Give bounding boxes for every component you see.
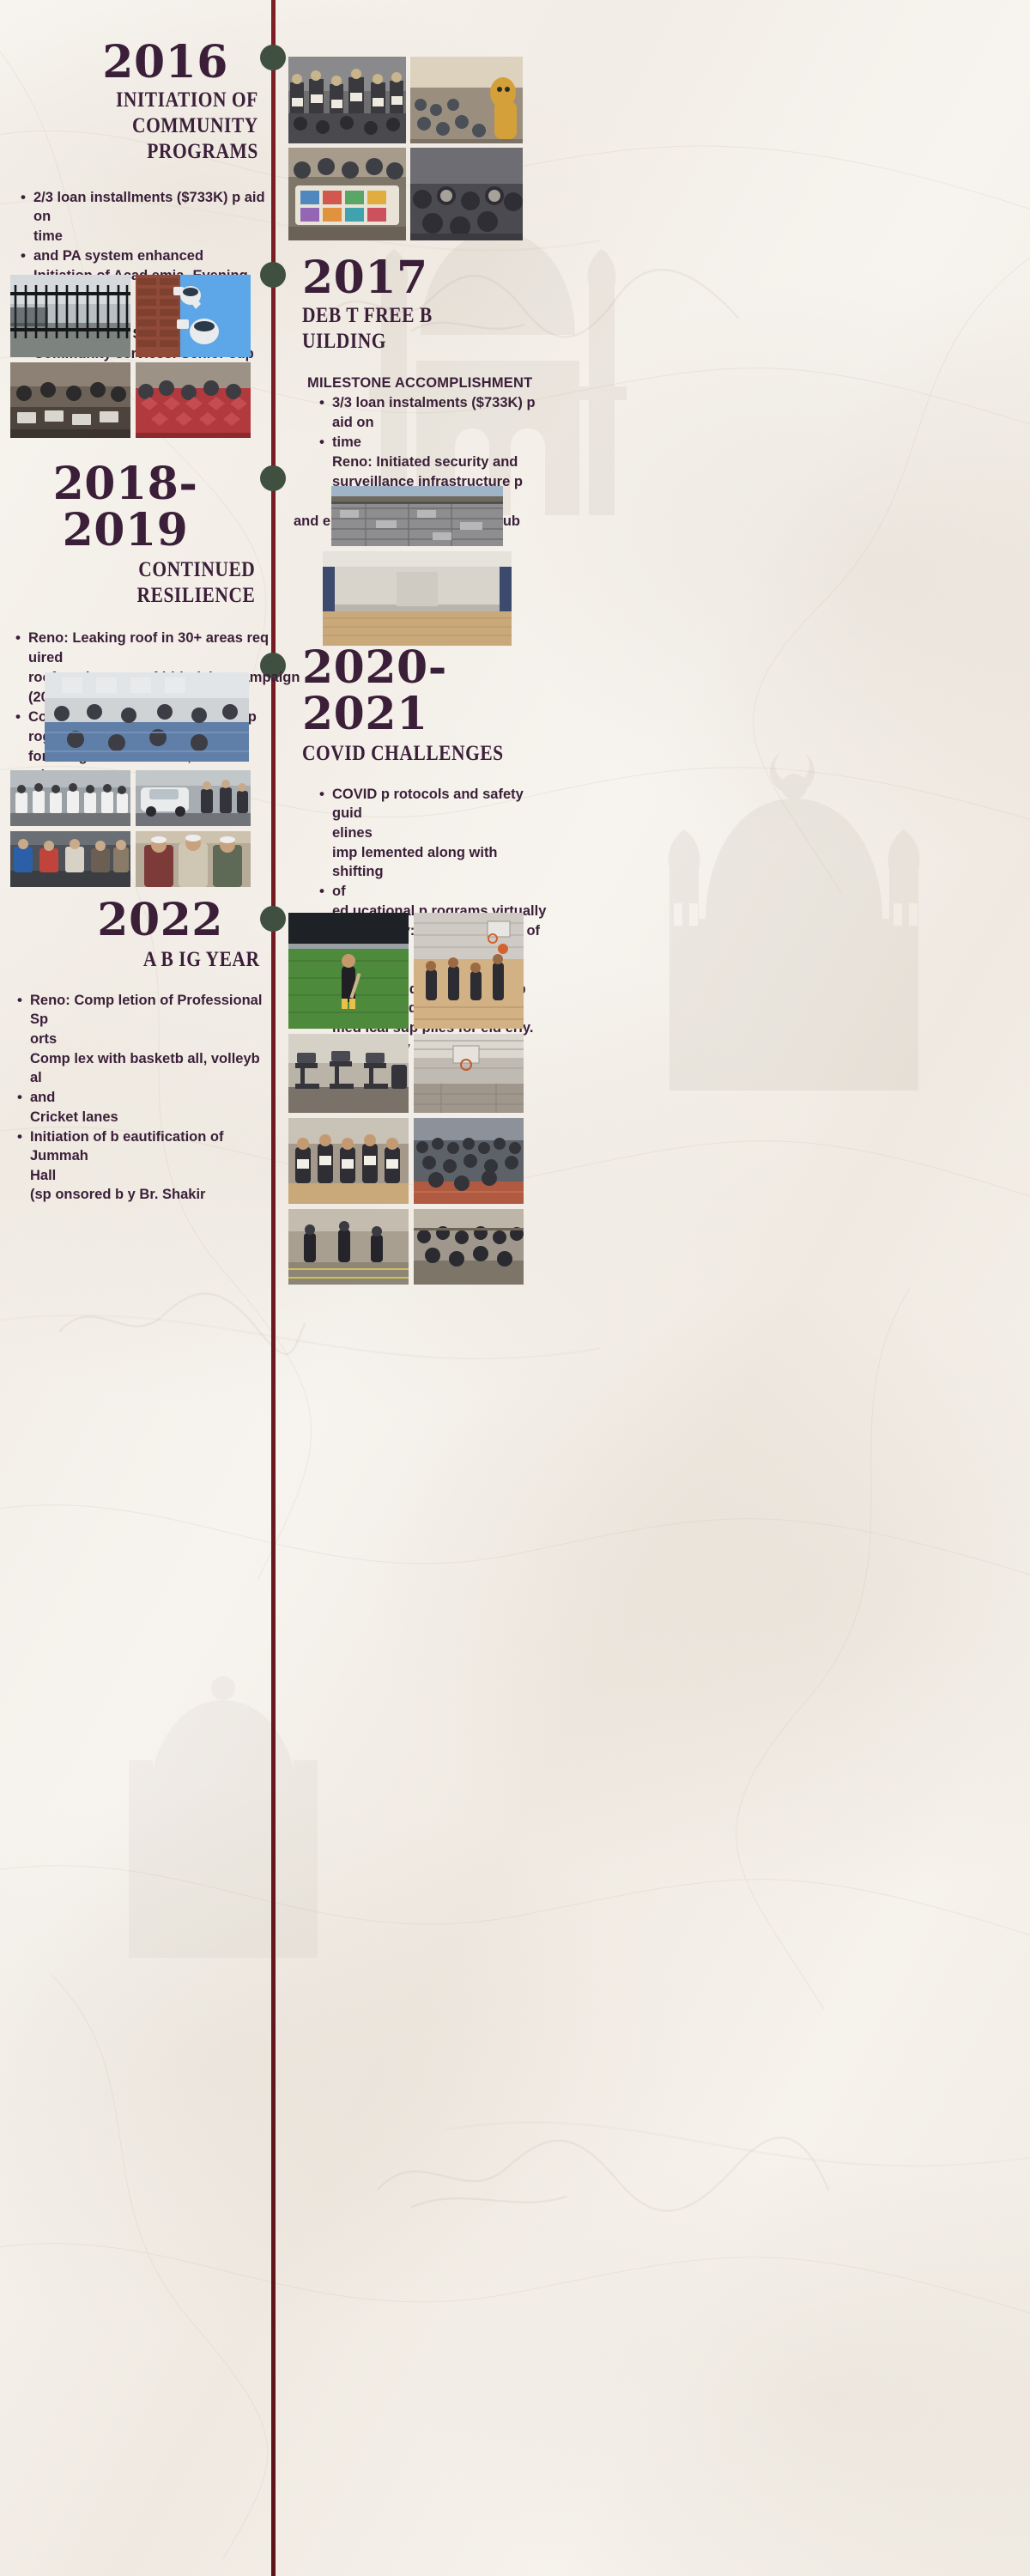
script-watermark-bottom xyxy=(360,2112,841,2224)
bullet-2020-3: of xyxy=(318,883,551,902)
photo-prayer-carpet-gathering xyxy=(136,362,251,438)
bullet-2018-0: Reno: Leaking roof in 30+ areas req xyxy=(14,629,273,648)
photo-hall-gathering-mascot xyxy=(410,57,523,143)
bullet-2018-1: uired xyxy=(14,649,273,668)
year-2016: 2016 xyxy=(0,39,273,86)
subtitle-2016-line1: INITIATION OF COMMUNITY xyxy=(39,88,273,139)
photo-audience-seated-gym xyxy=(414,1209,524,1285)
photo-volunteers-group-outside xyxy=(10,770,130,826)
timeline-spine xyxy=(271,0,276,2576)
photo-empty-gym-hall xyxy=(323,551,512,646)
bullet-2020-2: imp lemented along with shifting xyxy=(318,844,551,882)
section-2022-text: 2022 A B IG YEAR Reno: Comp letion of Pr… xyxy=(0,897,273,1206)
photo-basketball-game xyxy=(414,913,524,1029)
bullet-2022-7: (sp onsored b y Br. Shakir xyxy=(15,1186,273,1205)
year-2022: 2022 xyxy=(0,897,273,944)
bullets-2022: Reno: Comp letion of Professional Sp ort… xyxy=(0,992,273,1205)
photo-food-packing-volunteers xyxy=(10,831,130,887)
photo-kids-craft-table xyxy=(288,148,406,240)
bullet-2022-3: and xyxy=(15,1089,273,1108)
photo-fitness-gym-treadmills xyxy=(288,1034,409,1113)
photo-roof-aerial-view xyxy=(331,486,503,546)
photo-kids-certificates-gym xyxy=(288,1118,409,1204)
mosque-watermark-2 xyxy=(652,721,936,1091)
subtitle-2016-line2: PROGRAMS xyxy=(39,139,273,165)
bullet-2017-1: aid on xyxy=(318,414,551,433)
year-2017: 2017 xyxy=(302,255,551,301)
photo-socially-distanced-prayer xyxy=(45,672,249,762)
photo-prayer-hall-seated xyxy=(410,148,523,240)
photo-security-cameras-brick xyxy=(136,275,251,357)
bullet-2020-1: elines xyxy=(318,824,551,843)
bullet-2022-1: orts xyxy=(15,1030,273,1049)
script-watermark-left xyxy=(51,1271,309,1365)
photo-large-group-assembly xyxy=(414,1118,524,1204)
bullet-2016-1: time xyxy=(19,228,273,246)
bullet-2020-0: COVID p rotocols and safety guid xyxy=(318,786,551,823)
bullet-2022-5: Initiation of b eautification of Jummah xyxy=(15,1128,273,1166)
photo-car-food-distribution xyxy=(136,770,251,826)
subtitle-2022: A B IG YEAR xyxy=(39,947,273,973)
infographic-page: 2016 INITIATION OF COMMUNITY PROGRAMS 2/… xyxy=(0,0,1030,2576)
bullet-2022-2: Comp lex with basketb all, volleyb al xyxy=(15,1050,273,1088)
bullet-2017-0: 3/3 loan instalments ($733K) p xyxy=(318,394,551,413)
bullet-2017-2: time xyxy=(318,434,551,453)
subtitle-2020-2021: COVID CHALLENGES xyxy=(302,741,516,767)
subtitle-2018-2019: CONTINUED RESILIENCE xyxy=(39,557,273,609)
mosque-watermark-3 xyxy=(103,1631,343,1958)
photo-children-certificates xyxy=(288,57,406,143)
photo-three-men-portrait xyxy=(136,831,251,887)
bullet-2022-6: Hall xyxy=(15,1167,273,1186)
bullet-2022-0: Reno: Comp letion of Professional Sp xyxy=(15,992,273,1030)
photo-empty-sports-complex xyxy=(414,1034,524,1113)
bullet-2017-3: Reno: Initiated security and xyxy=(318,453,551,472)
bullet-2016-2: and PA system enhanced xyxy=(19,247,273,266)
milestone-header-2017: MILESTONE ACCOMPLISHMENT xyxy=(302,375,551,392)
bullet-2022-4: Cricket lanes xyxy=(15,1109,273,1127)
photo-iron-fence-gate xyxy=(10,275,130,357)
photo-indoor-turf-cricket xyxy=(288,913,409,1029)
bullet-2016-0: 2/3 loan installments ($733K) p aid on xyxy=(19,189,273,227)
year-2020-2021: 2020-2021 xyxy=(302,645,551,738)
subtitle-2017: DEB T FREE B UILDING xyxy=(302,303,516,355)
photo-girls-sports-activity xyxy=(288,1209,409,1285)
year-2018-2019: 2018-2019 xyxy=(0,461,273,554)
photo-meeting-room-laptops xyxy=(10,362,130,438)
